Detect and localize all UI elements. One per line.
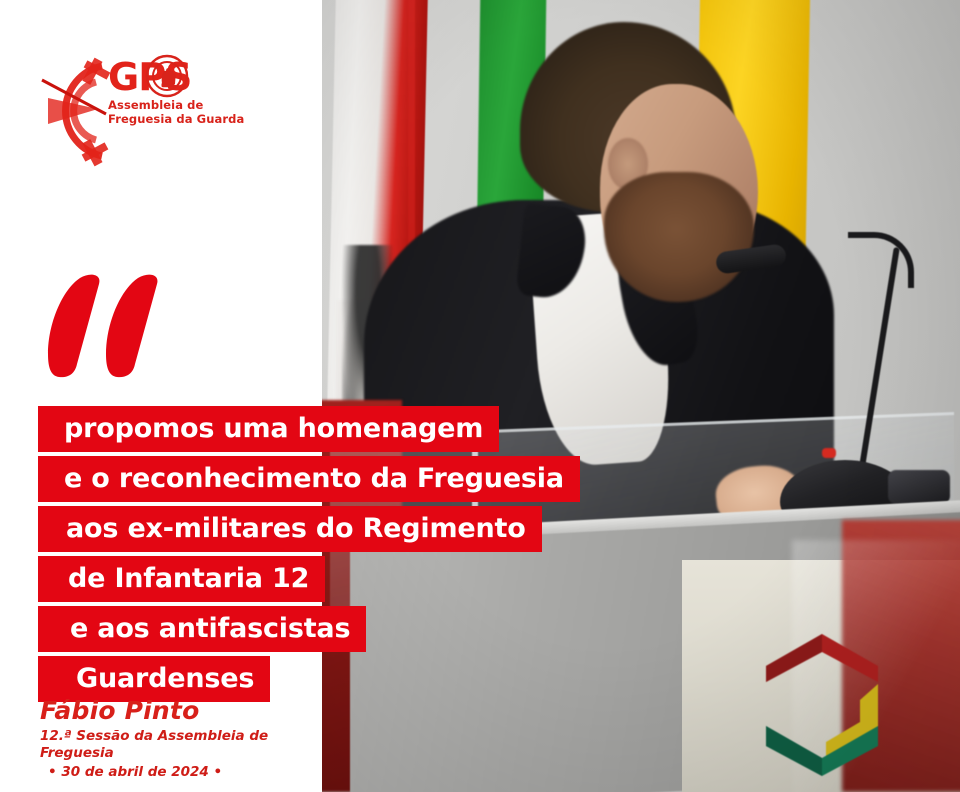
quote-line: de Infantaria 12 — [38, 556, 325, 602]
quote-line: aos ex-militares do Regimento — [38, 506, 542, 552]
speaker-beard — [604, 172, 754, 302]
gps-arc-mark-icon — [40, 52, 118, 170]
quote-line: e o reconhecimento da Freguesia — [38, 456, 580, 502]
gps-logo: GPS Assembleia de Freguesia da Guarda — [40, 52, 240, 170]
open-quote-icon — [44, 272, 174, 382]
attribution-block: Fábio Pinto 12.ª Sessão da Assembleia de… — [40, 698, 310, 781]
gps-logo-subtitle: Assembleia de Freguesia da Guarda — [108, 98, 248, 126]
quote-line: e aos antifascistas — [38, 606, 366, 652]
speaker-head — [512, 22, 752, 312]
session-label: 12.ª Sessão da Assembleia de Freguesia — [40, 728, 310, 762]
gps-logo-subtitle-line2: Freguesia da Guarda — [108, 112, 248, 126]
quote-line: propomos uma homenagem — [38, 406, 499, 452]
quote-text-block: propomos uma homenagem e o reconheciment… — [0, 406, 960, 706]
gps-logo-subtitle-line1: Assembleia de — [108, 98, 248, 112]
raised-fist-emblem-icon — [145, 54, 189, 98]
session-date: • 30 de abril de 2024 • — [48, 764, 310, 781]
social-quote-card: GPS Assembleia de Freguesia da Guarda pr… — [0, 0, 960, 792]
speaker-name: Fábio Pinto — [40, 698, 310, 724]
